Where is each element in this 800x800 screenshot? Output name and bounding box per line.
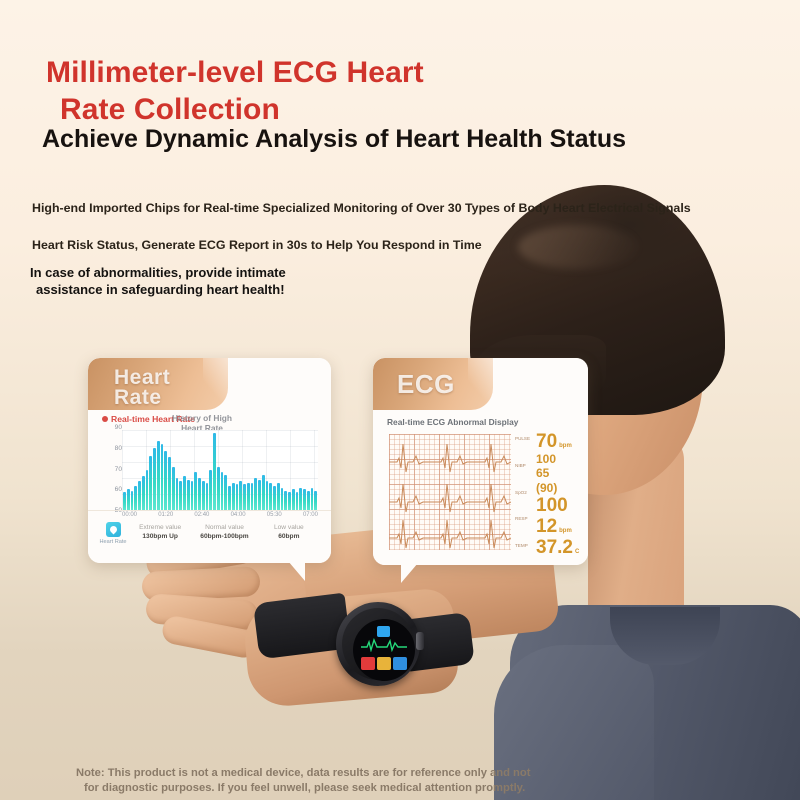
vital-temp: 37.2 C xyxy=(536,538,588,558)
chart-bar xyxy=(198,478,201,510)
legend-key: Normal value xyxy=(192,524,256,533)
tab-line-2: Rate xyxy=(114,386,162,409)
watch-heart-icon xyxy=(377,626,390,637)
chart-y-tick: 60 xyxy=(100,486,122,493)
ecg-vitals: 70 bpm 100 65 (90) 100 xyxy=(536,432,588,559)
chart-bar xyxy=(247,483,250,510)
chart-bar xyxy=(217,467,220,510)
promo-banner: Millimeter-level ECG Heart Rate Collecti… xyxy=(0,0,800,800)
chart-bar xyxy=(254,478,257,510)
chart-bar xyxy=(288,492,291,510)
chart-bar xyxy=(172,467,175,510)
chart-bar xyxy=(146,470,149,510)
chart-bar xyxy=(187,480,190,510)
heart-rate-icon-label: Heart Rate xyxy=(98,539,128,545)
chart-bar xyxy=(142,476,145,510)
legend-item: Normal value 60bpm-100bpm xyxy=(192,524,256,542)
heart-rate-legend: Heart Rate Extreme value 130bpm Up Norma… xyxy=(88,510,331,555)
chart-bar xyxy=(194,472,197,510)
feature-text-3-line-1: In case of abnormalities, provide intima… xyxy=(30,265,286,280)
card-tail xyxy=(288,561,305,581)
vital-pulse: 70 bpm xyxy=(536,432,588,452)
chart-bar xyxy=(277,483,280,510)
tab-fold xyxy=(203,358,229,410)
ecg-tab[interactable]: ECG xyxy=(373,358,493,410)
chart-y-axis: 9080706050 xyxy=(100,424,122,514)
legend-value: 130bpm Up xyxy=(128,533,192,542)
chart-bar xyxy=(213,433,216,510)
chart-bar xyxy=(134,486,137,510)
chart-bar xyxy=(273,486,276,510)
chart-bars xyxy=(122,430,318,510)
chart-bar xyxy=(311,488,314,510)
feature-text-3-line-2: assistance in safeguarding heart health! xyxy=(30,282,390,299)
chart-bar xyxy=(269,483,272,510)
chart-bar xyxy=(258,480,261,510)
vital-value: 70 xyxy=(536,432,557,452)
chart-bar xyxy=(266,481,269,510)
chart-bar xyxy=(221,472,224,510)
chart-bar xyxy=(284,491,287,510)
ecg-card[interactable]: ECG Real-time ECG Abnormal Display PULSE… xyxy=(373,358,588,565)
chart-bar xyxy=(303,489,306,510)
ecg-display: Real-time ECG Abnormal Display PULSENIBP… xyxy=(373,410,588,565)
vital-unit: bpm xyxy=(559,528,572,534)
heart-rate-chart: Real-time Heart Rate History of High Hea… xyxy=(88,410,331,563)
chart-bar xyxy=(307,491,310,510)
ecg-lead-label: PULSE xyxy=(515,436,537,441)
chart-bar xyxy=(209,470,212,510)
chart-bar xyxy=(281,488,284,510)
chart-bar xyxy=(191,481,194,510)
chart-y-tick: 90 xyxy=(100,424,122,431)
chart-bar xyxy=(179,481,182,510)
ecg-lead-label: SpO2 xyxy=(515,490,537,495)
note-line-2: for diagnostic purposes. If you feel unw… xyxy=(76,781,636,796)
vital-value: 12 xyxy=(536,517,557,537)
chart-bar xyxy=(153,448,156,510)
bullet-icon xyxy=(102,416,108,422)
chart-bar xyxy=(176,478,179,510)
chart-bar xyxy=(206,483,209,510)
chart-y-tick: 70 xyxy=(100,466,122,473)
watch-ecg-wave-icon xyxy=(361,638,407,652)
watch-tile-yellow xyxy=(377,657,391,670)
disclaimer-note: Note: This product is not a medical devi… xyxy=(76,766,636,795)
heart-rate-card[interactable]: Heart Rate Real-time Heart Rate History … xyxy=(88,358,331,563)
vital-value: 37.2 xyxy=(536,538,573,558)
chart-bar xyxy=(292,489,295,510)
ecg-tab-label: ECG xyxy=(373,369,455,400)
feature-text-2: Heart Risk Status, Generate ECG Report i… xyxy=(32,238,632,252)
vital-unit: bpm xyxy=(559,443,572,449)
chart-y-tick: 80 xyxy=(100,445,122,452)
watch-metric-tiles xyxy=(361,657,407,670)
legend-value: 60bpm-100bpm xyxy=(192,533,256,542)
chart-subtitle-line-1: History of High xyxy=(172,413,232,423)
title-line-2: Rate Collection xyxy=(46,92,686,129)
chart-bar xyxy=(232,483,235,510)
heart-rate-tab[interactable]: Heart Rate xyxy=(88,358,228,410)
ecg-lead-label: NIBP xyxy=(515,463,537,468)
vital-nibp-sys: 100 xyxy=(536,453,588,466)
card-tail xyxy=(401,563,418,583)
chart-bar xyxy=(183,476,186,510)
legend-value: 60bpm xyxy=(257,533,321,542)
watch-screen[interactable] xyxy=(353,619,415,681)
legend-item: Low value 60bpm xyxy=(257,524,321,542)
chart-bar xyxy=(157,441,160,510)
title-line-1: Millimeter-level ECG Heart xyxy=(46,56,424,89)
ecg-traces xyxy=(389,434,511,550)
vital-spo2: 100 xyxy=(536,496,588,516)
ecg-lead-label: RESP xyxy=(515,516,537,521)
chart-bar xyxy=(228,486,231,510)
chart-plot-area xyxy=(122,430,318,511)
watch-tile-blue xyxy=(393,657,407,670)
vital-value: 100 xyxy=(536,496,568,516)
chart-bar xyxy=(243,484,246,510)
legend-item: Extreme value 130bpm Up xyxy=(128,524,192,542)
chart-bar xyxy=(149,456,152,510)
watch-bezel xyxy=(342,608,414,680)
chart-bar xyxy=(164,451,167,510)
chart-bar xyxy=(299,488,302,510)
chart-bar xyxy=(127,489,130,510)
chart-bar xyxy=(168,457,171,510)
chart-bar xyxy=(251,483,254,510)
heart-rate-icon: Heart Rate xyxy=(98,522,128,545)
watch-crown[interactable] xyxy=(416,632,424,650)
feature-text-3: In case of abnormalities, provide intima… xyxy=(30,265,390,298)
chart-bar xyxy=(161,444,164,510)
feature-text-1: High-end Imported Chips for Real-time Sp… xyxy=(32,201,792,215)
vital-nibp-dia: 65 xyxy=(536,467,588,480)
smartwatch[interactable] xyxy=(336,602,420,686)
vital-nibp-map: (90) xyxy=(536,482,588,495)
ecg-lead-label: TEMP xyxy=(515,543,537,548)
chart-bar xyxy=(138,481,141,510)
ecg-title: Real-time ECG Abnormal Display xyxy=(387,417,518,427)
ecg-grid xyxy=(389,434,511,550)
vital-resp: 12 bpm xyxy=(536,517,588,537)
heart-rate-tab-label: Heart Rate xyxy=(88,368,170,408)
vital-value: 100 xyxy=(536,453,556,466)
vital-value: (90) xyxy=(536,482,557,495)
legend-key: Extreme value xyxy=(128,524,192,533)
note-line-1: Note: This product is not a medical devi… xyxy=(76,767,530,779)
chart-bar xyxy=(314,491,317,510)
chart-bar xyxy=(236,484,239,510)
chart-bar xyxy=(224,475,227,510)
chart-bar xyxy=(239,481,242,510)
watch-tile-red xyxy=(361,657,375,670)
page-subtitle: Achieve Dynamic Analysis of Heart Health… xyxy=(42,125,772,154)
vital-unit: C xyxy=(575,549,579,555)
chart-bar xyxy=(123,492,126,510)
legend-key: Low value xyxy=(257,524,321,533)
chart-bar xyxy=(131,491,134,510)
ecg-lead-labels: PULSENIBPSpO2RESPTEMP xyxy=(515,436,537,548)
chart-bar xyxy=(262,475,265,510)
vital-value: 65 xyxy=(536,467,549,480)
page-title: Millimeter-level ECG Heart Rate Collecti… xyxy=(46,55,686,128)
chart-bar xyxy=(296,492,299,510)
chart-bar xyxy=(202,481,205,510)
tab-fold xyxy=(468,358,494,410)
